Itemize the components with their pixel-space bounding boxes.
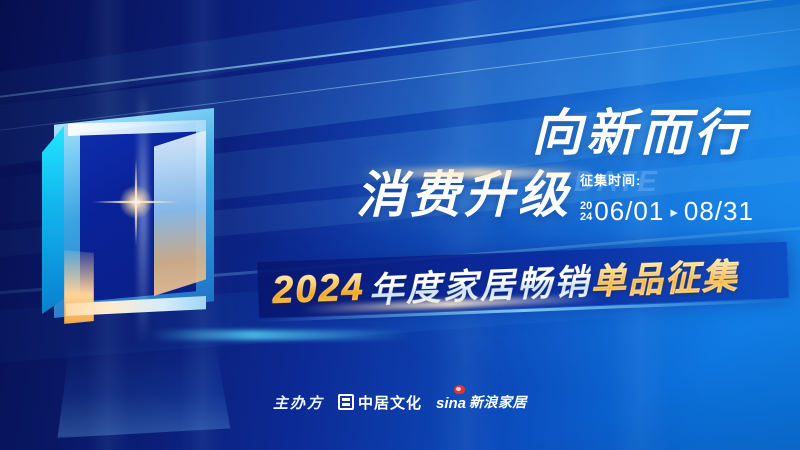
sponsor2-name: 新浪家居 [469, 392, 527, 412]
floor-light-line [150, 330, 410, 340]
date-block: DATE 征集时间: 20 24 06/01 ▸ 08/31 [572, 170, 784, 227]
flare-core [119, 185, 153, 219]
date-year-stacked: 20 24 [580, 201, 592, 222]
sponsor-logo-zhongju: 中居文化 [338, 392, 422, 413]
footer-sponsor-row: 主办方 中居文化 sina 新浪家居 [0, 388, 800, 416]
promo-banner: 向新而行 消费升级 DATE 征集时间: 20 24 06/01 ▸ 08/31… [0, 0, 800, 450]
date-range-row: 20 24 06/01 ▸ 08/31 [580, 196, 784, 227]
date-year-top: 20 [580, 201, 592, 211]
date-label: 征集时间: [580, 170, 784, 189]
portal-shell [42, 100, 242, 345]
portal-door-graphic [42, 100, 242, 345]
headline-line-1: 向新而行 [356, 108, 748, 158]
zhongju-mark-icon [338, 394, 354, 410]
sponsor1-name: 中居文化 [358, 392, 422, 413]
door-leaf [154, 130, 206, 296]
sina-eye-icon [454, 385, 465, 394]
light-flare-icon [134, 200, 138, 204]
door-frame-left-edge [42, 126, 64, 314]
organizer-label: 主办方 [273, 392, 324, 413]
arrow-right-icon: ▸ [670, 203, 678, 221]
date-year-bottom: 24 [580, 212, 592, 222]
date-start: 06/01 [594, 196, 664, 227]
sina-wordmark: sina [436, 392, 466, 412]
sponsor-logo-sina: sina 新浪家居 [436, 392, 527, 412]
headline-underglow [360, 168, 600, 178]
subtitle-gold-part: 单品征集 [590, 248, 740, 305]
date-end: 08/31 [684, 196, 754, 227]
